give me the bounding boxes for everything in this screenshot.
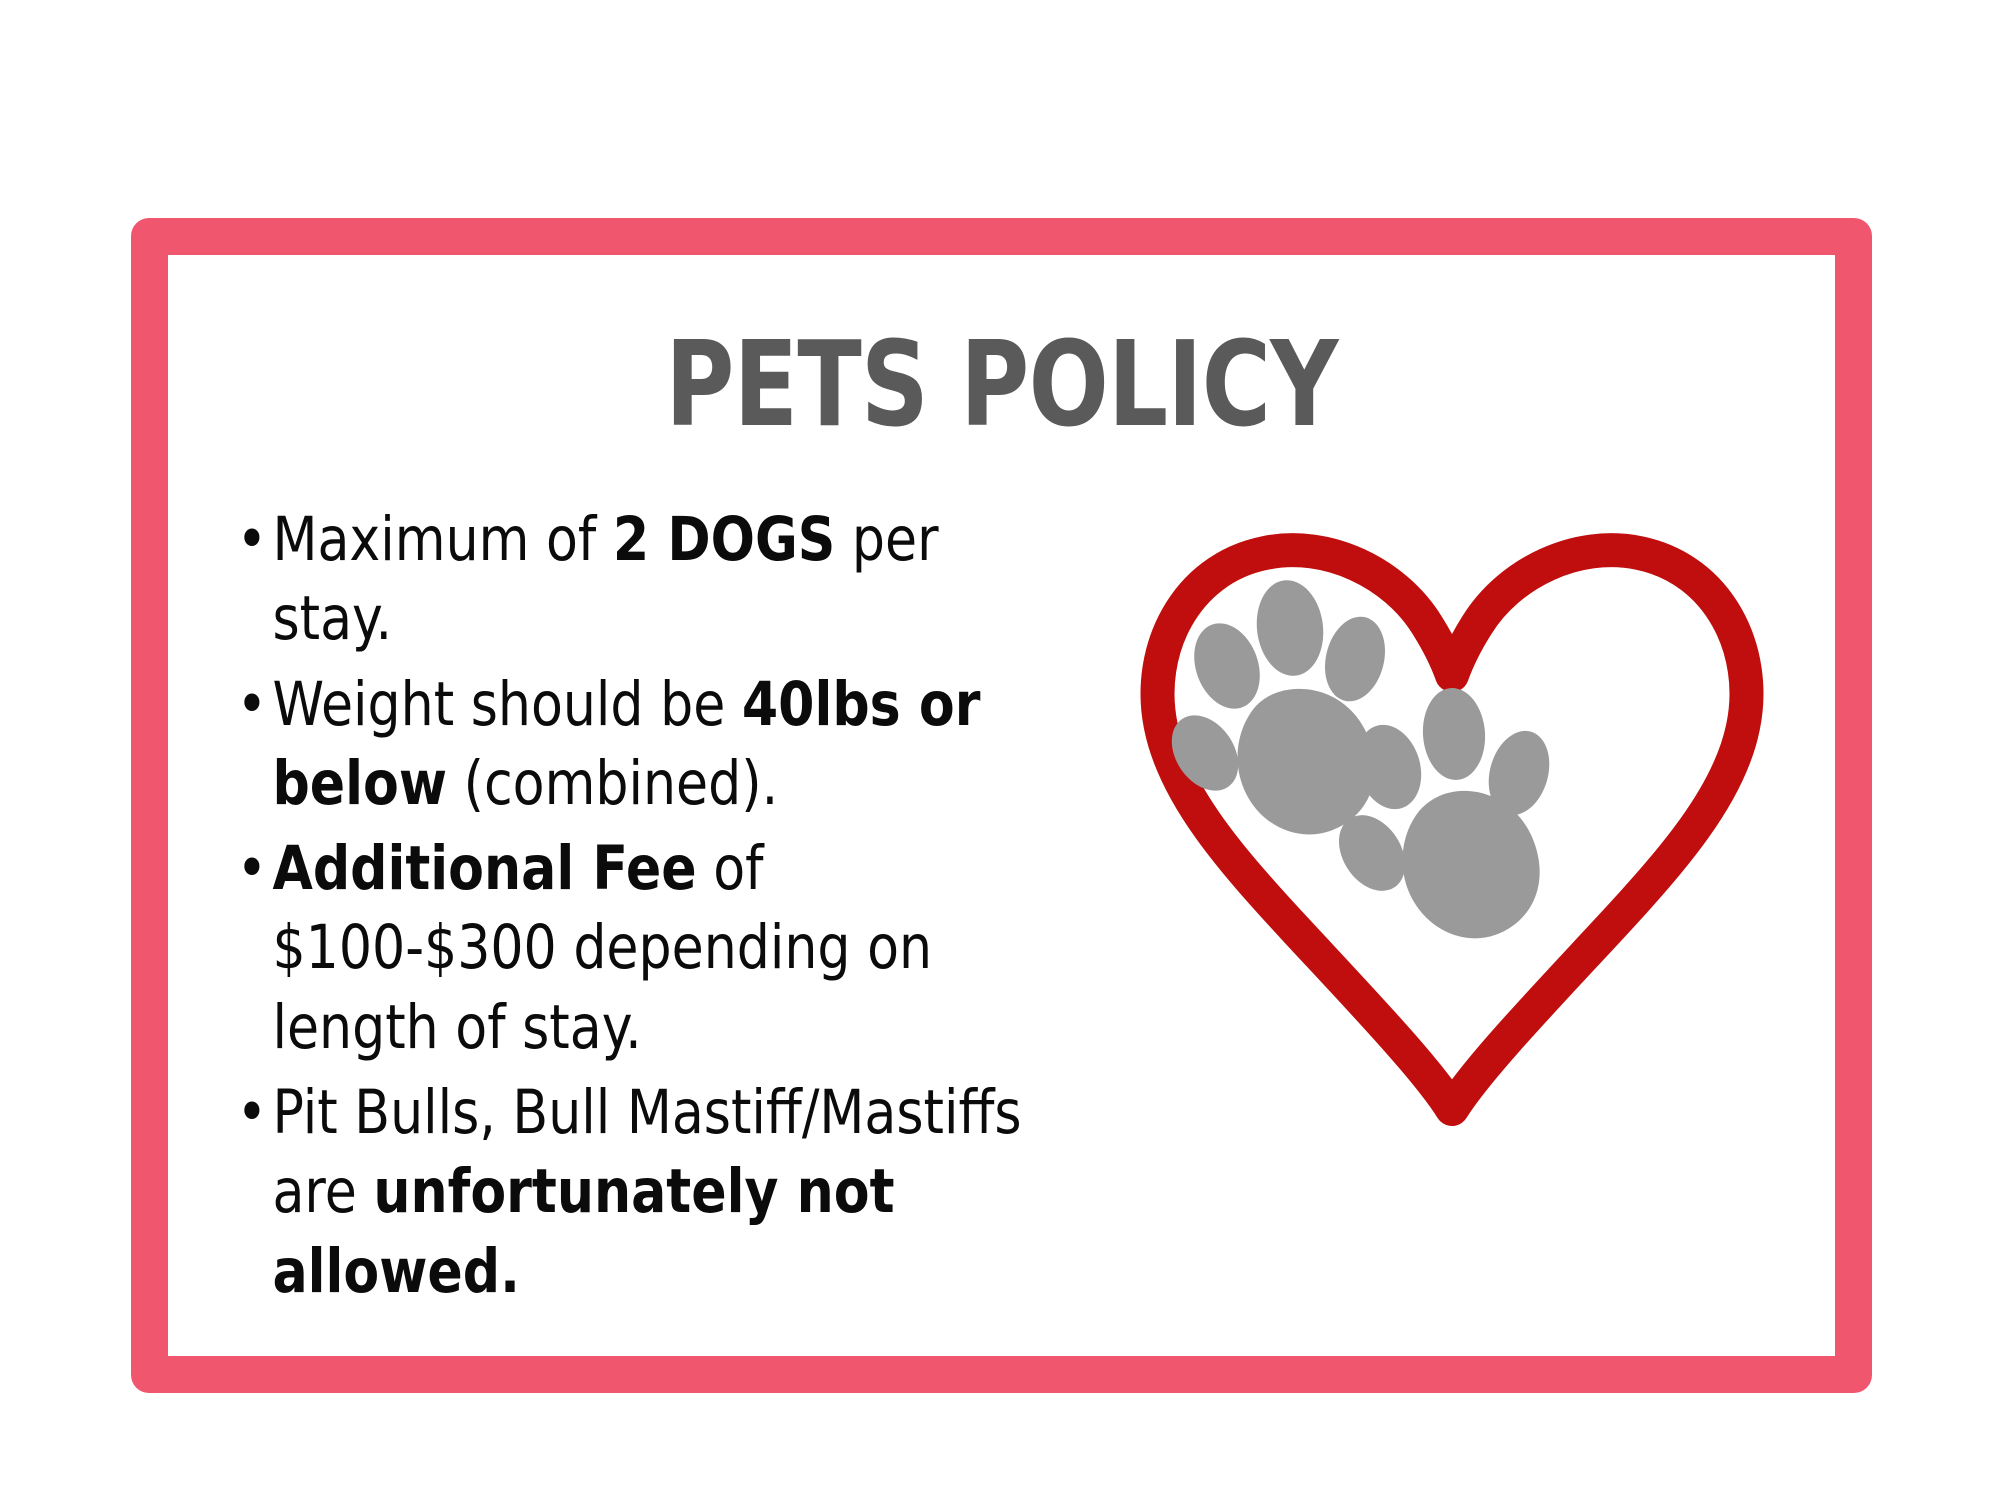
list-item: • Maximum of 2 DOGS per stay. xyxy=(228,500,1049,659)
page-title: PETS POLICY xyxy=(335,323,1669,447)
policy-bullet-list: • Maximum of 2 DOGS per stay. • Weight s… xyxy=(228,500,1049,1317)
bullet-marker-icon: • xyxy=(237,500,268,579)
bullet-1-text-bold: 2 DOGS xyxy=(613,504,835,575)
heart-paw-icon xyxy=(1127,491,1777,1151)
list-item: • Additional Fee of $100-$300 depending … xyxy=(228,829,1049,1067)
bullet-marker-icon: • xyxy=(237,1073,268,1152)
bullet-marker-icon: • xyxy=(237,829,268,908)
bullet-marker-icon: • xyxy=(237,665,268,744)
list-item: • Pit Bulls, Bull Mastiff/Mastiffs are u… xyxy=(228,1073,1049,1311)
bullet-2-text-post: (combined). xyxy=(447,748,778,819)
list-item: • Weight should be 40lbs or below (combi… xyxy=(228,665,1049,824)
pets-policy-slide: PETS POLICY • Maximum of 2 DOGS per stay… xyxy=(0,0,2000,1500)
bullet-3-text-bold: Additional Fee xyxy=(272,833,696,904)
bullet-2-text-pre: Weight should be xyxy=(272,669,741,740)
bullet-1-text-pre: Maximum of xyxy=(272,504,612,575)
policy-card: PETS POLICY • Maximum of 2 DOGS per stay… xyxy=(131,218,1872,1393)
policy-card-inner: PETS POLICY • Maximum of 2 DOGS per stay… xyxy=(168,255,1835,1356)
